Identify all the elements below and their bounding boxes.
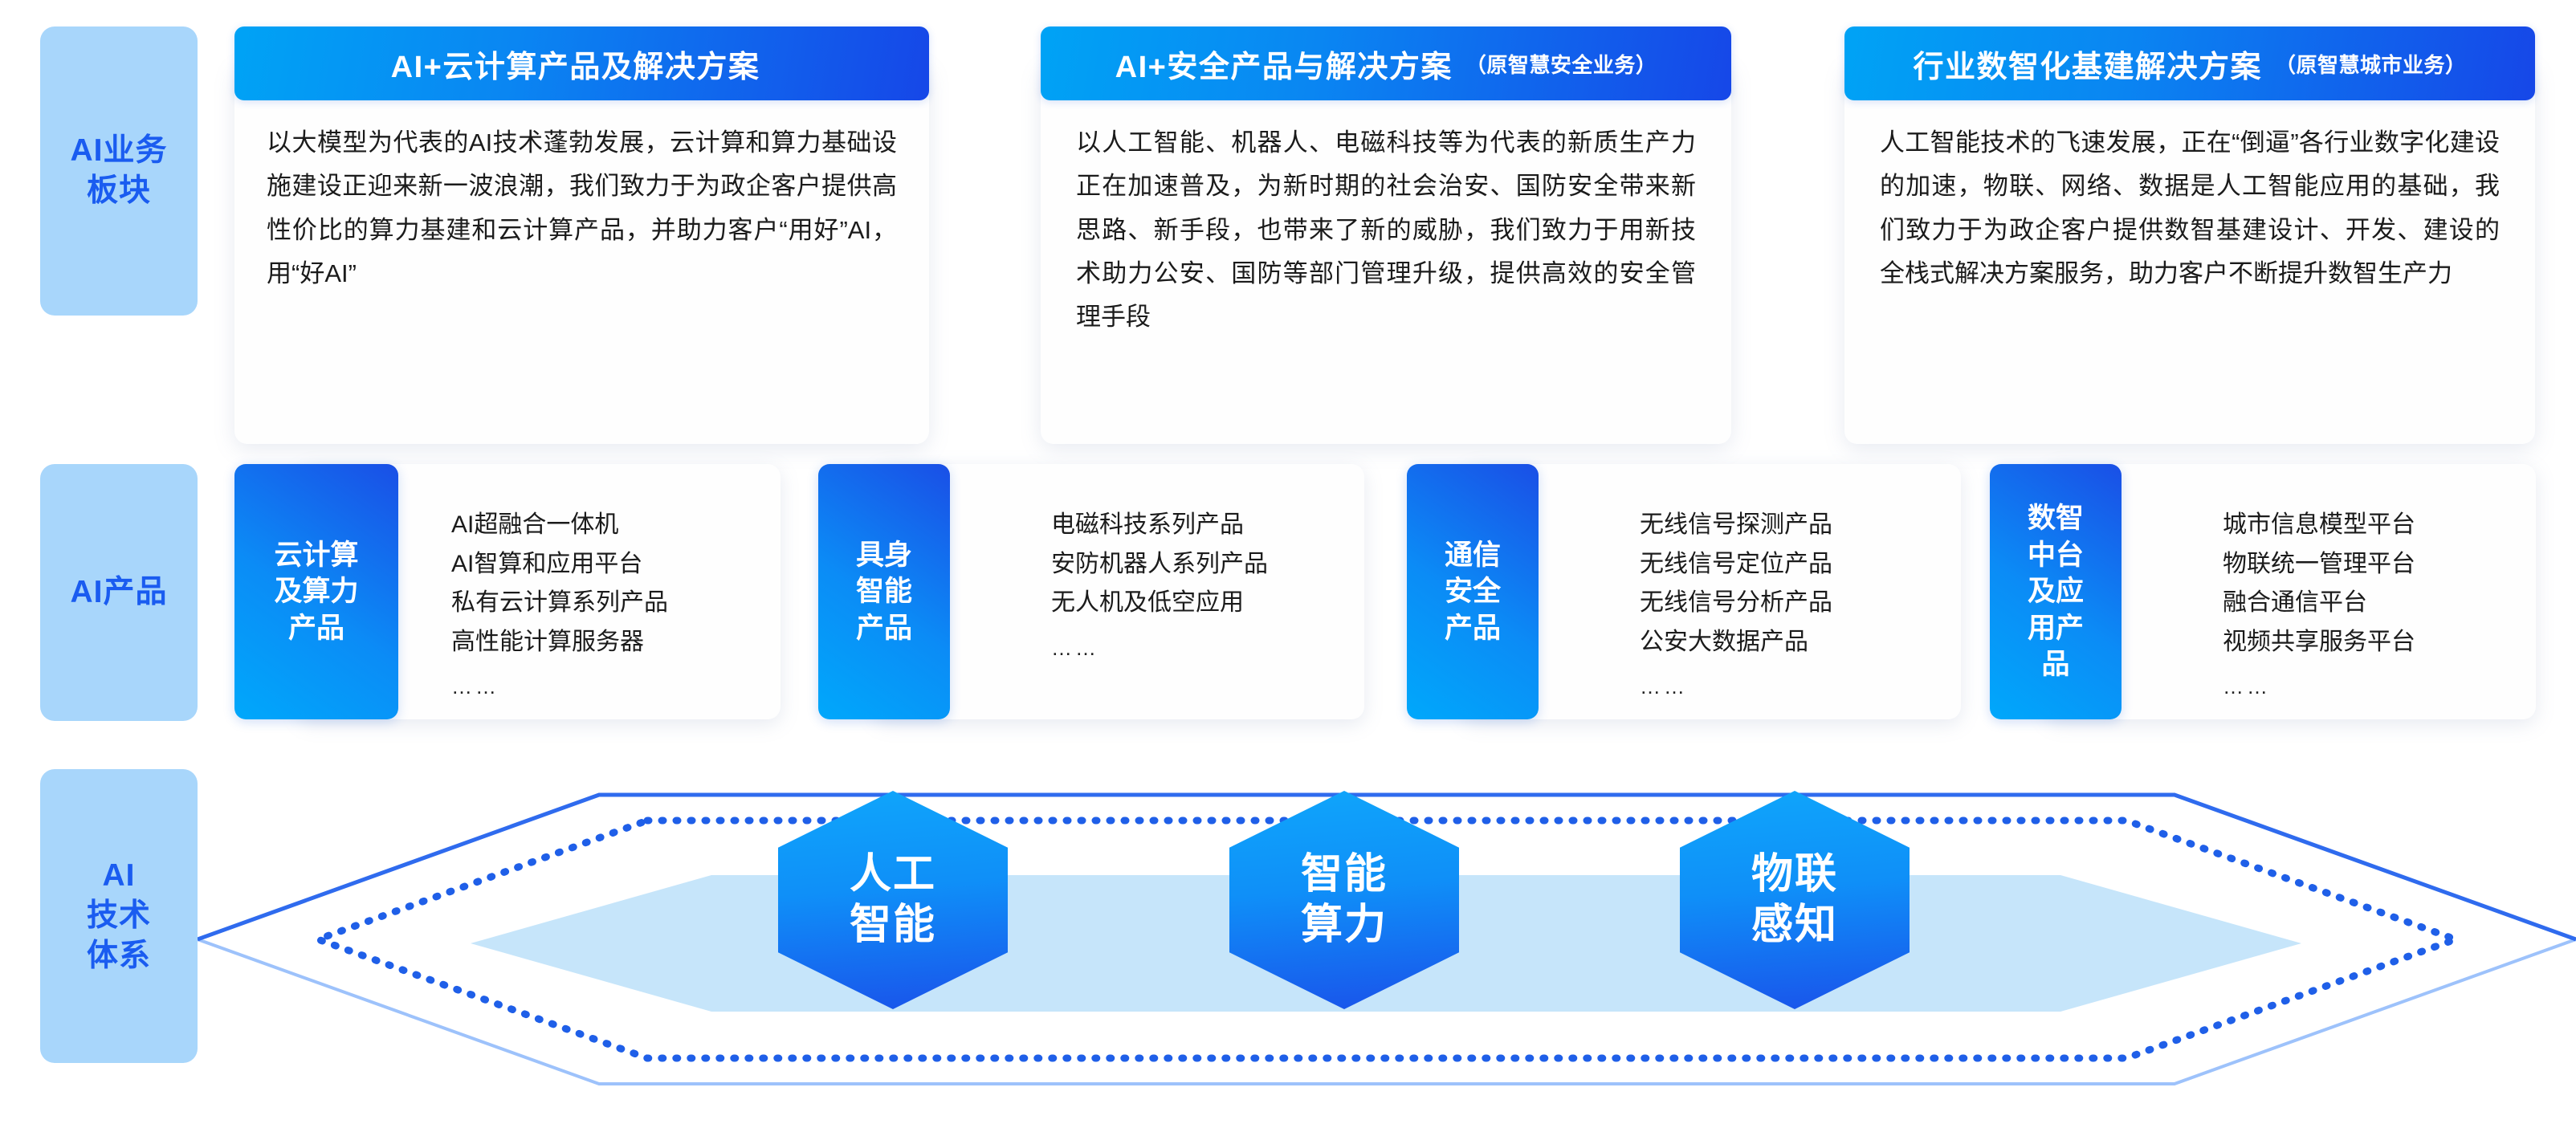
list-item: 安防机器人系列产品 xyxy=(1051,545,1268,584)
business-column-cloud[interactable]: AI+云计算产品及解决方案 以大模型为代表的AI技术蓬勃发展，云计算和算力基础设… xyxy=(234,26,929,444)
rail-label-tech-line1: AI xyxy=(102,858,135,893)
product-group-data-platform[interactable]: 数智中台及应用产品 城市信息模型平台 物联统一管理平台 融合通信平台 视频共享服… xyxy=(1990,464,2536,719)
list-item: 视频共享服务平台 xyxy=(2223,623,2415,662)
list-more-ellipsis: …… xyxy=(451,670,668,703)
product-item-list: 城市信息模型平台 物联统一管理平台 融合通信平台 视频共享服务平台 …… xyxy=(2223,506,2415,703)
tech-node-iot-line2: 感知 xyxy=(1751,900,1838,951)
rail-label-tech-line2: 技术 xyxy=(87,898,151,933)
tech-node-compute-line2: 算力 xyxy=(1301,900,1388,951)
tech-node-iot[interactable]: 物联 感知 xyxy=(1680,791,1910,1009)
product-tile-label: 云计算及算力产品 xyxy=(234,464,398,719)
tech-node-ai-line1: 人工 xyxy=(850,849,936,900)
list-more-ellipsis: …… xyxy=(1640,670,1832,703)
list-item: 私有云计算系列产品 xyxy=(451,584,668,623)
rail-label-business: AI业务 板块 xyxy=(40,26,198,316)
product-item-list: 电磁科技系列产品 安防机器人系列产品 无人机及低空应用 …… xyxy=(1051,506,1268,665)
business-header-city: 行业数智化基建解决方案 （原智慧城市业务） xyxy=(1844,26,2535,100)
business-subtitle: （原智慧城市业务） xyxy=(2275,49,2467,79)
list-more-ellipsis: …… xyxy=(1051,631,1268,665)
list-item: 城市信息模型平台 xyxy=(2223,506,2415,545)
rail-label-tech-line3: 体系 xyxy=(87,939,151,973)
rail-label-tech: AI 技术 体系 xyxy=(40,769,198,1063)
list-more-ellipsis: …… xyxy=(2223,670,2415,703)
tech-node-ai-line2: 智能 xyxy=(850,900,936,951)
rail-label-products: AI产品 xyxy=(40,464,198,721)
rail-label-business-line2: 板块 xyxy=(87,173,151,208)
list-item: 无线信号探测产品 xyxy=(1640,506,1832,545)
business-title: AI+云计算产品及解决方案 xyxy=(391,42,760,86)
list-item: 融合通信平台 xyxy=(2223,584,2415,623)
business-column-city[interactable]: 行业数智化基建解决方案 （原智慧城市业务） 人工智能技术的飞速发展，正在“倒逼”… xyxy=(1844,26,2535,444)
diagram-canvas: AI业务 板块 AI产品 AI 技术 体系 AI+云计算产品及解决方案 以大模型… xyxy=(0,0,2576,1124)
product-group-embodied[interactable]: 具身智能产品 电磁科技系列产品 安防机器人系列产品 无人机及低空应用 …… xyxy=(818,464,1364,719)
list-item: 电磁科技系列产品 xyxy=(1051,506,1268,545)
list-item: AI智算和应用平台 xyxy=(451,545,668,584)
business-subtitle: （原智慧安全业务） xyxy=(1465,49,1657,79)
list-item: 无线信号分析产品 xyxy=(1640,584,1832,623)
tech-node-row: 人工 智能 智能 算力 物联 感知 xyxy=(198,747,2576,1124)
business-body-text: 以大模型为代表的AI技术蓬勃发展，云计算和算力基础设施建设正迎来新一波浪潮，我们… xyxy=(234,121,929,295)
tech-node-compute[interactable]: 智能 算力 xyxy=(1229,791,1459,1009)
tech-node-ai[interactable]: 人工 智能 xyxy=(778,791,1008,1009)
business-header-security: AI+安全产品与解决方案 （原智慧安全业务） xyxy=(1041,26,1731,100)
rail-label-products-line1: AI产品 xyxy=(70,575,167,609)
product-item-list: AI超融合一体机 AI智算和应用平台 私有云计算系列产品 高性能计算服务器 …… xyxy=(451,506,668,703)
product-group-cloud[interactable]: 云计算及算力产品 AI超融合一体机 AI智算和应用平台 私有云计算系列产品 高性… xyxy=(234,464,781,719)
business-column-security[interactable]: AI+安全产品与解决方案 （原智慧安全业务） 以人工智能、机器人、电磁科技等为代… xyxy=(1041,26,1731,444)
tech-node-compute-line1: 智能 xyxy=(1301,849,1388,900)
rail-label-business-line1: AI业务 xyxy=(70,133,167,168)
product-item-list: 无线信号探测产品 无线信号定位产品 无线信号分析产品 公安大数据产品 …… xyxy=(1640,506,1832,703)
list-item: 无人机及低空应用 xyxy=(1051,584,1268,623)
product-tile-label: 具身智能产品 xyxy=(818,464,950,719)
product-tile-label: 数智中台及应用产品 xyxy=(1990,464,2122,719)
business-body-text: 人工智能技术的飞速发展，正在“倒逼”各行业数字化建设的加速，物联、网络、数据是人… xyxy=(1844,121,2535,295)
list-item: 高性能计算服务器 xyxy=(451,623,668,662)
business-title: AI+安全产品与解决方案 xyxy=(1115,42,1453,86)
product-group-comm-security[interactable]: 通信安全产品 无线信号探测产品 无线信号定位产品 无线信号分析产品 公安大数据产… xyxy=(1407,464,1961,719)
business-body-text: 以人工智能、机器人、电磁科技等为代表的新质生产力正在加速普及，为新时期的社会治安… xyxy=(1041,121,1731,339)
list-item: 公安大数据产品 xyxy=(1640,623,1832,662)
list-item: AI超融合一体机 xyxy=(451,506,668,545)
tech-stack-diagram: 人工 智能 智能 算力 物联 感知 xyxy=(198,747,2576,1124)
tech-node-iot-line1: 物联 xyxy=(1751,849,1838,900)
list-item: 物联统一管理平台 xyxy=(2223,545,2415,584)
business-title: 行业数智化基建解决方案 xyxy=(1913,42,2262,86)
business-header-cloud: AI+云计算产品及解决方案 xyxy=(234,26,929,100)
list-item: 无线信号定位产品 xyxy=(1640,545,1832,584)
product-tile-label: 通信安全产品 xyxy=(1407,464,1539,719)
